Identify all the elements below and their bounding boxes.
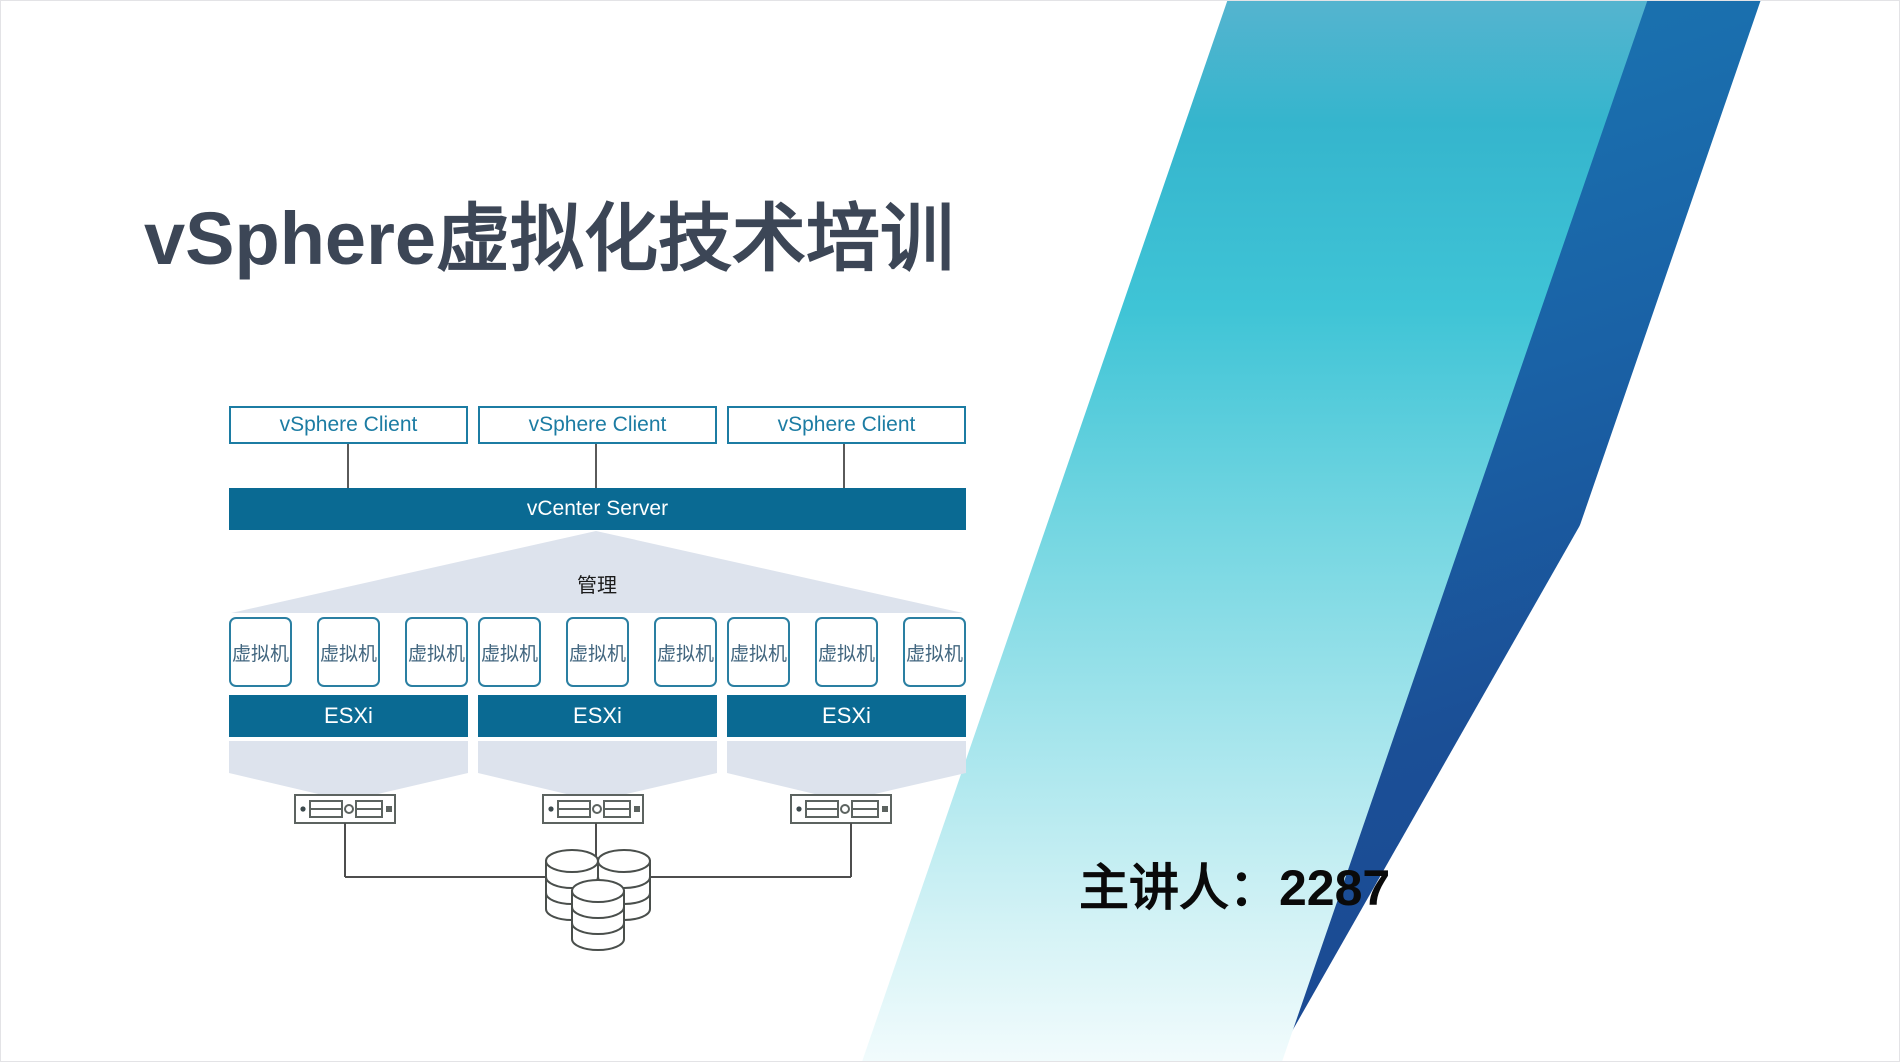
vm-box-label: 虚拟机 — [906, 639, 963, 666]
esxi-down-arrows — [229, 741, 966, 801]
vm-box[interactable]: 虚拟机 — [229, 617, 292, 687]
vm-box[interactable]: 虚拟机 — [317, 617, 380, 687]
esxi-bar-label: ESXi — [324, 703, 373, 729]
client-box-3[interactable]: vSphere Client — [727, 406, 966, 444]
server-icon — [543, 795, 643, 823]
client-box-label: vSphere Client — [778, 413, 916, 437]
vm-box-label: 虚拟机 — [481, 639, 538, 666]
vm-box[interactable]: 虚拟机 — [727, 617, 790, 687]
esxi-bar-1[interactable]: ESXi — [229, 695, 468, 737]
vm-box-label: 虚拟机 — [408, 639, 465, 666]
server-icon — [295, 795, 395, 823]
vcenter-server-label: vCenter Server — [527, 497, 668, 521]
esxi-bar-3[interactable]: ESXi — [727, 695, 966, 737]
server-icons — [295, 795, 891, 823]
shared-storage-icon — [546, 850, 650, 950]
client-box-2[interactable]: vSphere Client — [478, 406, 717, 444]
presentation-slide: vSphere虚拟化技术培训 主讲人：2287 — [0, 0, 1900, 1062]
vcenter-server-bar[interactable]: vCenter Server — [229, 488, 966, 530]
vm-box-label: 虚拟机 — [320, 639, 377, 666]
vm-box[interactable]: 虚拟机 — [478, 617, 541, 687]
vsphere-architecture-diagram: vSphere Client vSphere Client vSphere Cl… — [1, 1, 1201, 1062]
esxi-bar-label: ESXi — [822, 703, 871, 729]
management-label: 管理 — [561, 569, 633, 598]
vm-box-label: 虚拟机 — [657, 639, 714, 666]
vm-box[interactable]: 虚拟机 — [815, 617, 878, 687]
client-box-label: vSphere Client — [529, 413, 667, 437]
client-box-1[interactable]: vSphere Client — [229, 406, 468, 444]
vm-box-label: 虚拟机 — [569, 639, 626, 666]
client-box-label: vSphere Client — [280, 413, 418, 437]
esxi-bar-label: ESXi — [573, 703, 622, 729]
storage-cylinder-front — [572, 880, 624, 950]
diagram-vector-layer — [1, 1, 1201, 1062]
vm-box-label: 虚拟机 — [232, 639, 289, 666]
vm-box-label: 虚拟机 — [730, 639, 787, 666]
vm-box[interactable]: 虚拟机 — [405, 617, 468, 687]
esxi-bar-2[interactable]: ESXi — [478, 695, 717, 737]
vm-box[interactable]: 虚拟机 — [654, 617, 717, 687]
server-icon — [791, 795, 891, 823]
vm-box[interactable]: 虚拟机 — [566, 617, 629, 687]
vm-box-label: 虚拟机 — [818, 639, 875, 666]
client-connector-lines — [348, 444, 844, 488]
vm-box[interactable]: 虚拟机 — [903, 617, 966, 687]
